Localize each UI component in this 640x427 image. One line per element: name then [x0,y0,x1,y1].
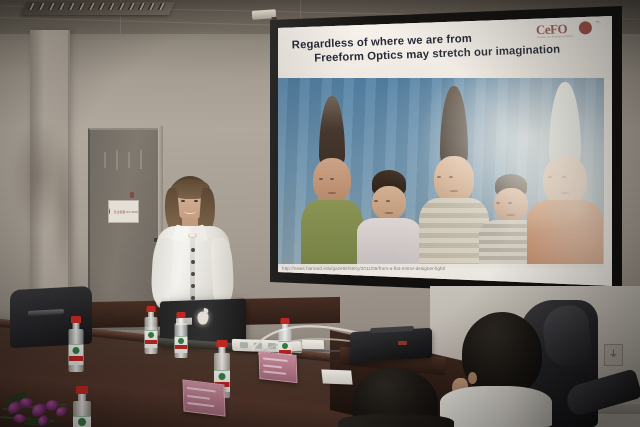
wall-stain [52,140,78,280]
wall-outlet: ⏚ [604,344,623,366]
laptop-bag-tag [398,341,407,345]
ceiling-light-fixture [21,2,175,15]
outlet-icon: ⏚ [609,350,618,360]
slide-distorted-group-photo [278,78,604,268]
attendee-body [338,414,454,427]
presenter-arm-left [150,238,173,305]
no-smoking-sign-text: 禁止吸烟 NO SMOKING [114,210,139,214]
cefo-logo-dot-icon [579,21,592,34]
door-marking [130,192,134,198]
shirt-button [191,284,195,288]
cefo-logo: CeFO ™ Center for Freeform Optics [536,19,601,43]
shirt-button [191,248,195,252]
apple-leaf-icon [203,308,209,313]
cefo-logo-trademark: ™ [596,20,600,25]
presenter-eye-left [181,200,185,202]
shirt-button [191,260,195,264]
paper-sheet[interactable] [321,369,352,384]
presenter-arm-right [210,237,234,304]
name-card[interactable] [259,351,298,383]
conference-room-photo: 禁止吸烟 NO SMOKING Regardless of where we a… [0,0,640,427]
slide-photo-person-5 [526,82,604,268]
slide-photo-person-1 [300,96,364,268]
water-bottle[interactable] [142,306,159,354]
orchid-arrangement [0,388,110,427]
slide-source-url: http://news.harvard.edu/gazette/story/20… [282,266,445,271]
no-smoking-icon [108,206,110,217]
projector-screen: Regardless of where we are from Freeform… [268,14,612,290]
presenter-eye-right [194,200,198,202]
laptop-bag[interactable] [350,328,432,362]
name-card[interactable] [182,379,225,416]
no-smoking-sign: 禁止吸烟 NO SMOKING [108,200,139,223]
presentation-slide: Regardless of where we are from Freeform… [268,14,612,290]
presenter-smile [184,209,196,214]
water-bottle[interactable] [66,316,86,372]
attendee-ear [468,372,477,384]
cefo-logo-tagline: Center for Freeform Optics [537,35,573,39]
slide-photo-person-2 [356,170,422,268]
shirt-button [191,272,195,276]
water-bottle[interactable] [172,312,189,358]
attendee-body [440,386,552,427]
paper-note[interactable] [302,340,325,349]
apple-logo-icon [198,312,209,325]
